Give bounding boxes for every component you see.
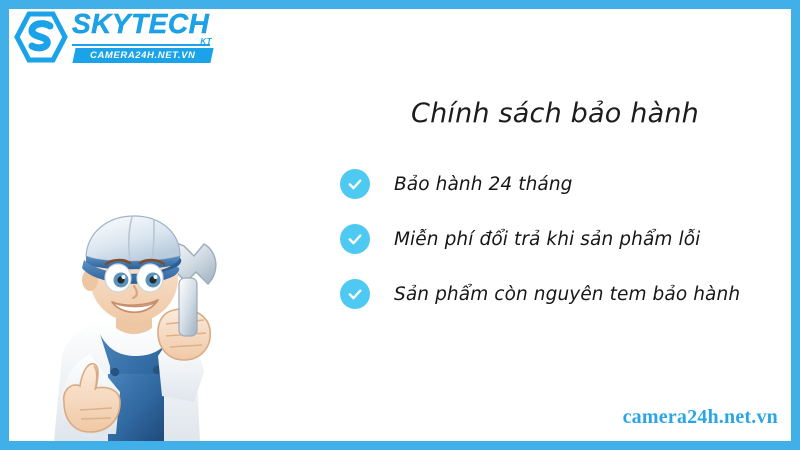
- frame-border-right: [791, 0, 800, 450]
- technician-thumbs-up-wrench-illustration: [24, 206, 240, 441]
- skytech-logo[interactable]: SKYTECH KT CAMERA24H.NET.VN: [14, 6, 214, 68]
- frame-border-top: [0, 0, 800, 9]
- skytech-hexagon-s-icon: [14, 10, 68, 64]
- list-item: Miễn phí đổi trả khi sản phẩm lỗi: [340, 221, 780, 257]
- logo-url-text: CAMERA24H.NET.VN: [90, 50, 196, 61]
- frame-border-bottom: [0, 441, 800, 450]
- list-item: Bảo hành 24 tháng: [340, 166, 780, 202]
- list-item-label: Bảo hành 24 tháng: [394, 174, 573, 195]
- logo-text-block: SKYTECH KT CAMERA24H.NET.VN: [72, 10, 214, 38]
- logo-url-banner: CAMERA24H.NET.VN: [72, 48, 213, 63]
- warranty-policy-banner: SKYTECH KT CAMERA24H.NET.VN Chính sách b…: [0, 0, 800, 450]
- page-title: Chính sách bảo hành: [330, 98, 780, 129]
- list-item-label: Miễn phí đổi trả khi sản phẩm lỗi: [394, 229, 700, 250]
- check-circle-icon: [340, 279, 370, 309]
- check-circle-icon: [340, 169, 370, 199]
- warranty-feature-list: Bảo hành 24 tháng Miễn phí đổi trả khi s…: [340, 166, 780, 331]
- list-item-label: Sản phẩm còn nguyên tem bảo hành: [394, 284, 740, 305]
- check-circle-icon: [340, 224, 370, 254]
- logo-divider-rule: [72, 44, 210, 46]
- logo-wordmark: SKYTECH: [72, 10, 214, 38]
- frame-border-left: [0, 0, 9, 450]
- list-item: Sản phẩm còn nguyên tem bảo hành: [340, 276, 780, 312]
- site-watermark: camera24h.net.vn: [623, 406, 778, 429]
